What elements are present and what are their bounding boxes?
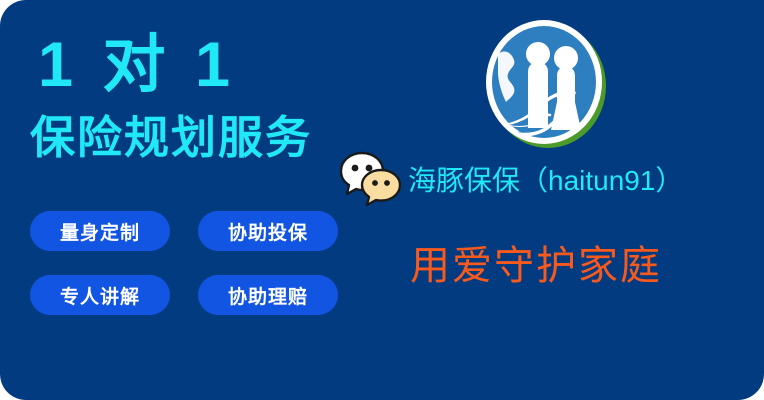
globe-dolphin-family-logo-icon — [480, 14, 612, 154]
service-pill-label: 专人讲解 — [60, 282, 140, 309]
service-pill-tailored[interactable]: 量身定制 — [30, 211, 170, 251]
service-pill-assist-enrollment[interactable]: 协助投保 — [198, 211, 338, 251]
service-pill-grid: 量身定制 协助投保 专人讲解 协助理赔 — [30, 211, 360, 315]
page-subtitle: 保险规划服务 — [30, 115, 312, 160]
service-pill-label: 量身定制 — [60, 218, 140, 245]
service-pill-assist-claims[interactable]: 协助理赔 — [198, 275, 338, 315]
wechat-icon — [340, 150, 402, 208]
service-pill-label: 协助理赔 — [228, 282, 308, 309]
page-title: 1 对 1 — [38, 34, 236, 97]
brand-logo — [480, 14, 612, 154]
wechat-id-text: 海豚保保（haitun91） — [408, 159, 683, 199]
left-content-column: 1 对 1 保险规划服务 量身定制 协助投保 专人讲解 协助理赔 — [0, 0, 390, 400]
slogan-text: 用爱守护家庭 — [410, 246, 662, 286]
wechat-contact-row[interactable]: 海豚保保（haitun91） — [340, 150, 683, 208]
right-content-column: 海豚保保（haitun91） 用爱守护家庭 — [340, 0, 764, 400]
service-pill-expert-explanation[interactable]: 专人讲解 — [30, 275, 170, 315]
promo-banner: 1 对 1 保险规划服务 量身定制 协助投保 专人讲解 协助理赔 — [0, 0, 764, 400]
service-pill-label: 协助投保 — [228, 218, 308, 245]
